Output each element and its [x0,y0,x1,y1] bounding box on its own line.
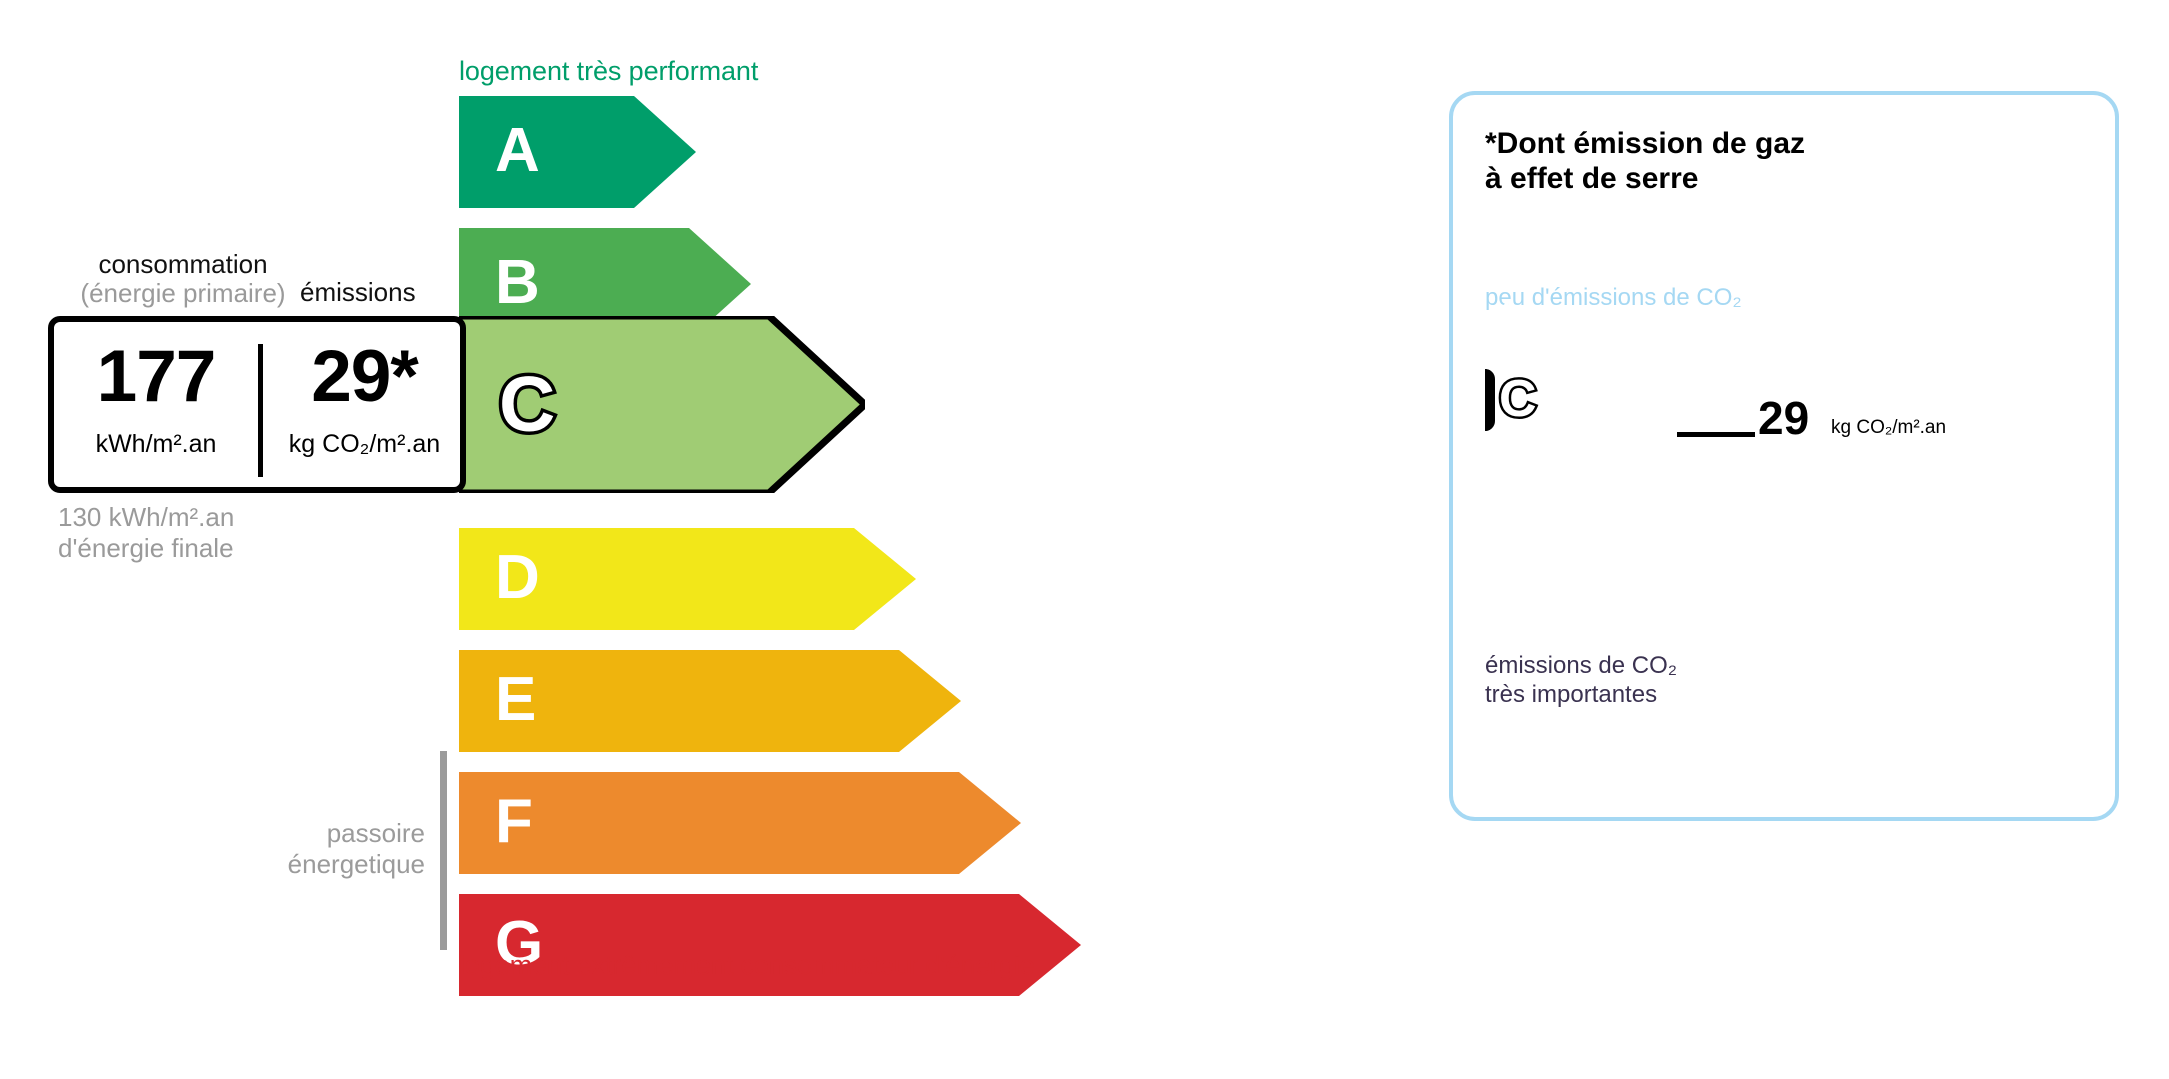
passoire-label-line2: énergetique [288,849,425,879]
energy-bar-letter-b: B [495,252,540,314]
co2-bar-letter-g: G [1497,546,1522,578]
energy-bar-letter-a: A [495,120,540,182]
consumption-unit: kWh/m².an [54,432,258,457]
co2-leader-line [1677,432,1755,437]
emissions-heading: émissions [300,278,416,307]
emissions-unit: kg CO₂/m².an [263,432,466,457]
co2-bar-d: D [1485,435,1685,468]
energy-bar-letter-c: C [499,364,555,442]
energy-bar-c: C [459,316,865,493]
passoire-bracket [440,751,447,950]
energy-bar-letter-e: E [495,669,536,731]
energy-bar-a: A [459,96,696,208]
energy-bar-letter-d: D [495,547,540,609]
co2-bar-a: A [1485,295,1585,328]
co2-bar-letter-f: F [1497,509,1517,541]
energy-bottom-note: logement extrêmement consommateur d'éner… [459,950,1035,981]
co2-bar-c: C [1485,369,1665,431]
co2-bar-fill-c [1485,369,1495,431]
co2-bar-f: F [1485,509,1739,542]
co2-panel-title: *Dont émission de gaz à effet de serre [1485,126,1805,197]
final-energy-line1: 130 kWh/m².an [58,502,234,532]
energy-bar-d: D [459,528,916,630]
energy-bar-e: E [459,650,961,752]
final-energy-note: 130 kWh/m².an d'énergie finale [58,502,378,564]
co2-bottom-note-line1: émissions de CO₂ [1485,652,1677,679]
consumption-heading-sub: (énergie primaire) [63,279,303,308]
co2-bottom-note: émissions de CO₂ très importantes [1485,652,1677,710]
co2-value-unit: kg CO₂/m².an [1831,418,1946,437]
final-energy-line2: d'énergie finale [58,533,234,563]
energy-bar-letter-f: F [495,791,533,853]
consumption-cell: 177 kWh/m².an [54,322,258,487]
co2-bar-e: E [1485,472,1709,505]
co2-panel: *Dont émission de gaz à effet de serre p… [1449,91,2119,821]
emissions-value: 29* [263,340,466,413]
consumption-heading-main: consommation [98,249,267,279]
co2-bar-b: B [1485,332,1613,365]
energy-performance-panel: logement très performant ABCDEFG passoir… [0,0,1400,1079]
co2-bottom-note-line2: très importantes [1485,681,1657,708]
co2-value: 29 [1758,395,1809,441]
co2-title-line2: à effet de serre [1485,162,1698,195]
co2-bar-letter-e: E [1497,472,1518,504]
consumption-heading: consommation (énergie primaire) [63,250,303,308]
value-box: 177 kWh/m².an 29* kg CO₂/m².an [48,316,466,493]
dpe-diagram: logement très performant ABCDEFG passoir… [0,0,2169,1079]
co2-bar-g: G [1485,546,1765,579]
co2-bar-letter-a: A [1497,295,1520,327]
co2-title-line1: *Dont émission de gaz [1485,127,1805,160]
energy-top-note: logement très performant [459,56,758,87]
consumption-value: 177 [54,340,258,413]
co2-bar-letter-b: B [1497,332,1520,364]
energy-bar-f: F [459,772,1021,874]
co2-bar-letter-c: C [1499,373,1537,425]
passoire-label-line1: passoire [327,818,425,848]
passoire-label: passoire énergetique [220,818,425,880]
co2-bar-letter-d: D [1497,435,1520,467]
emissions-cell: 29* kg CO₂/m².an [263,322,466,487]
